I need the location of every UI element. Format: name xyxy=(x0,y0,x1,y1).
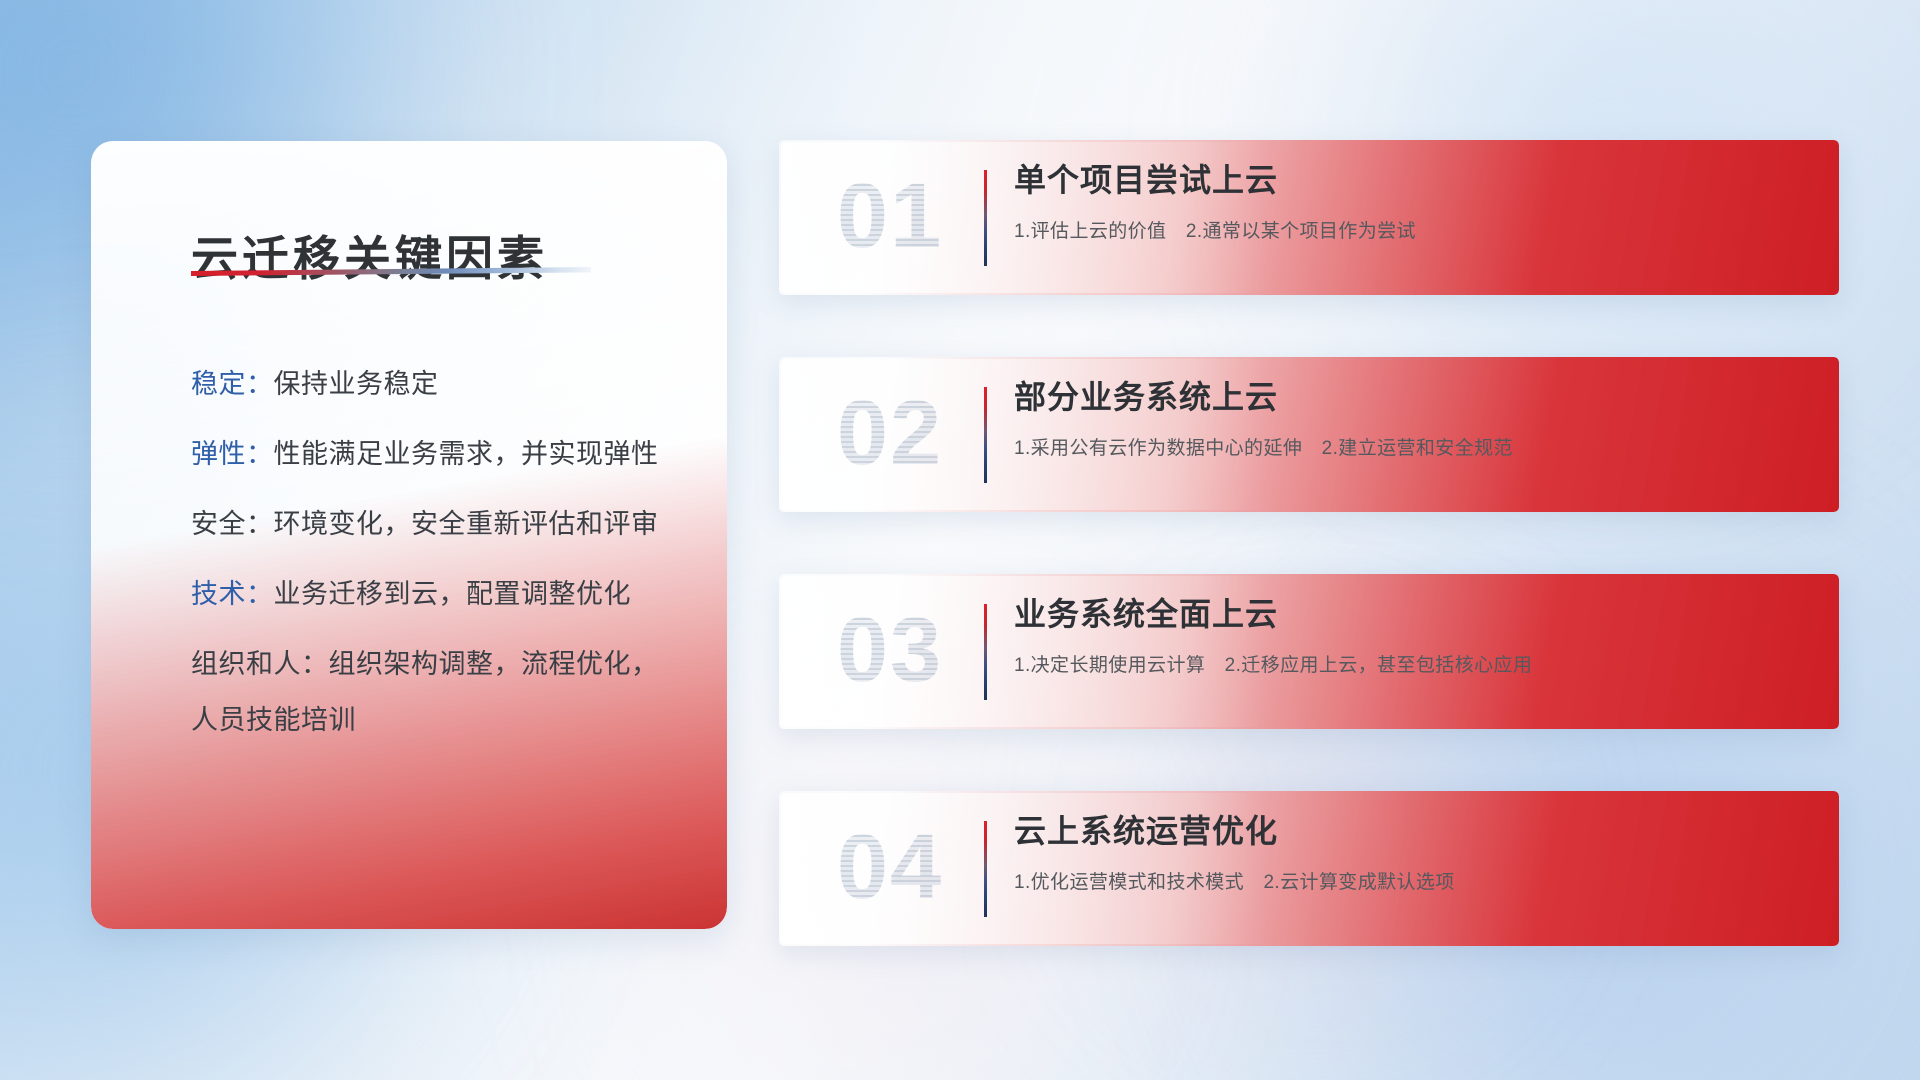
factor-key: 弹性： xyxy=(191,439,274,469)
card-description: 1.评估上云的价值 2.通常以某个项目作为尝试 xyxy=(1014,216,1809,243)
factor-value: 性能满足业务需求，并实现弹性 xyxy=(274,439,659,469)
factor-value: 保持业务稳定 xyxy=(274,369,439,399)
factor-item-stability: 稳定：保持业务稳定 xyxy=(191,371,691,398)
page-title: 云迁移关键因素 xyxy=(191,220,548,289)
factor-item-elasticity: 弹性：性能满足业务需求，并实现弹性 xyxy=(191,441,691,468)
stage-number: 04 xyxy=(815,807,965,927)
card-text-block: 云上系统运营优化 1.优化运营模式和技术模式 2.云计算变成默认选项 xyxy=(1014,813,1809,894)
factor-item-technology: 技术：业务迁移到云，配置调整优化 xyxy=(191,581,691,608)
stage-number: 03 xyxy=(815,590,965,710)
card-title: 单个项目尝试上云 xyxy=(1014,162,1809,200)
factor-key: 稳定： xyxy=(191,369,274,399)
factor-key: 技术： xyxy=(191,579,274,609)
stage-card[interactable]: 01 单个项目尝试上云 1.评估上云的价值 2.通常以某个项目作为尝试 xyxy=(779,140,1839,295)
card-title: 部分业务系统上云 xyxy=(1014,379,1809,417)
card-description: 1.决定长期使用云计算 2.迁移应用上云，甚至包括核心应用 xyxy=(1014,650,1809,677)
factor-key: 组织和人： xyxy=(191,649,329,679)
stage-card-list: 01 单个项目尝试上云 1.评估上云的价值 2.通常以某个项目作为尝试 02 部… xyxy=(779,140,1839,946)
factor-value: 组织架构调整，流程优化， xyxy=(329,649,659,679)
key-factors-panel: 云迁移关键因素 稳定：保持业务稳定 弹性：性能满足业务需求，并实现弹性 安全：环… xyxy=(91,141,727,929)
factor-item-organization: 组织和人：组织架构调整，流程优化， xyxy=(191,651,691,678)
stage-number: 01 xyxy=(815,156,965,276)
card-description: 1.优化运营模式和技术模式 2.云计算变成默认选项 xyxy=(1014,867,1809,894)
card-divider xyxy=(984,821,987,917)
card-description: 1.采用公有云作为数据中心的延伸 2.建立运营和安全规范 xyxy=(1014,433,1809,460)
card-text-block: 业务系统全面上云 1.决定长期使用云计算 2.迁移应用上云，甚至包括核心应用 xyxy=(1014,596,1809,677)
card-divider xyxy=(984,387,987,483)
factor-value: 业务迁移到云，配置调整优化 xyxy=(274,579,632,609)
stage-card[interactable]: 04 云上系统运营优化 1.优化运营模式和技术模式 2.云计算变成默认选项 xyxy=(779,791,1839,946)
stage-card[interactable]: 02 部分业务系统上云 1.采用公有云作为数据中心的延伸 2.建立运营和安全规范 xyxy=(779,357,1839,512)
factor-item-security: 安全：环境变化，安全重新评估和评审 xyxy=(191,511,691,538)
card-title: 业务系统全面上云 xyxy=(1014,596,1809,634)
factor-list: 稳定：保持业务稳定 弹性：性能满足业务需求，并实现弹性 安全：环境变化，安全重新… xyxy=(191,371,691,777)
card-divider xyxy=(984,604,987,700)
card-text-block: 单个项目尝试上云 1.评估上云的价值 2.通常以某个项目作为尝试 xyxy=(1014,162,1809,243)
stage-card[interactable]: 03 业务系统全面上云 1.决定长期使用云计算 2.迁移应用上云，甚至包括核心应… xyxy=(779,574,1839,729)
card-divider xyxy=(984,170,987,266)
card-title: 云上系统运营优化 xyxy=(1014,813,1809,851)
stage-number: 02 xyxy=(815,373,965,493)
card-text-block: 部分业务系统上云 1.采用公有云作为数据中心的延伸 2.建立运营和安全规范 xyxy=(1014,379,1809,460)
factor-item-organization-continuation: 人员技能培训 xyxy=(191,707,691,734)
factor-value: 环境变化，安全重新评估和评审 xyxy=(274,509,659,539)
slide-stage: 云迁移关键因素 稳定：保持业务稳定 弹性：性能满足业务需求，并实现弹性 安全：环… xyxy=(0,0,1920,1080)
factor-key: 安全： xyxy=(191,509,274,539)
